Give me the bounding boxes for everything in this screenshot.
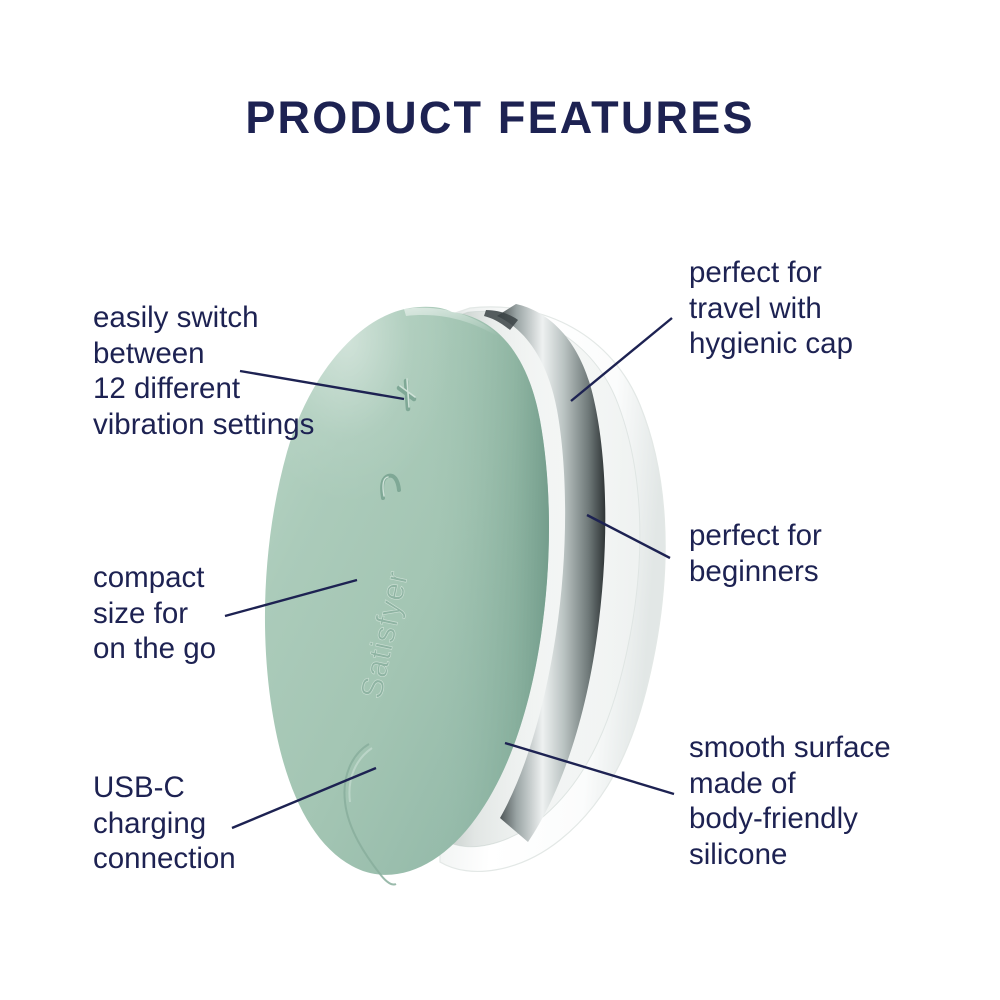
callout-smooth-surface-silicone: smooth surface made of body-friendly sil… [689, 730, 954, 873]
callout-travel-hygienic-cap: perfect for travel with hygienic cap [689, 255, 949, 362]
callout-perfect-for-beginners: perfect for beginners [689, 518, 949, 589]
page-title: PRODUCT FEATURES [0, 92, 1000, 144]
leader-line-beginners [587, 515, 670, 558]
leader-line-smooth [505, 743, 674, 794]
callout-usb-c-charging: USB-C charging connection [93, 770, 343, 877]
product-features-infographic: PRODUCT FEATURES [0, 0, 1000, 1000]
callout-compact-size: compact size for on the go [93, 560, 343, 667]
leader-line-travel [571, 318, 672, 401]
callout-easily-switch: easily switch between 12 different vibra… [93, 300, 383, 443]
